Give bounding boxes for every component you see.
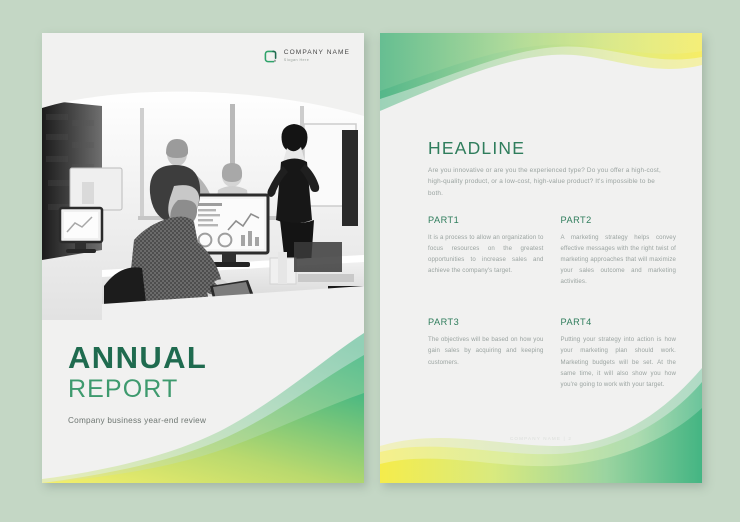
logo-slogan: Slogan Here (284, 59, 350, 63)
parts-grid: PART1 It is a process to allow an organi… (428, 215, 676, 390)
part-title: PART2 (561, 215, 677, 225)
part-title: PART1 (428, 215, 544, 225)
logo-text: COMPANY NAME Slogan Here (284, 50, 350, 63)
inside-content: HEADLINE Are you innovative or are you t… (380, 33, 702, 483)
cover-page: COMPANY NAME Slogan Here (42, 33, 364, 483)
part-title: PART4 (561, 317, 677, 327)
page-footer: COMPANY NAME | 2 (380, 436, 702, 441)
parts-row: PART3 The objectives will be based on ho… (428, 317, 676, 389)
part-title: PART3 (428, 317, 544, 327)
cover-title-annual: ANNUAL (68, 342, 207, 374)
page-headline: HEADLINE (428, 138, 525, 159)
part-body: Putting your strategy into action is how… (561, 334, 677, 389)
cover-title-block: ANNUAL REPORT Company business year-end … (68, 342, 207, 425)
part-column-1: PART1 It is a process to allow an organi… (428, 215, 544, 287)
part-body: The objectives will be based on how you … (428, 334, 544, 367)
part-body: A marketing strategy helps convey effect… (561, 232, 677, 287)
brochure-mockup: COMPANY NAME Slogan Here (0, 0, 740, 522)
company-logo-mark (263, 49, 278, 64)
cover-photo (42, 90, 364, 320)
cover-title-report: REPORT (68, 375, 207, 403)
part-body: It is a process to allow an organization… (428, 232, 544, 276)
office-photo-illustration (42, 90, 364, 320)
part-column-3: PART3 The objectives will be based on ho… (428, 317, 544, 389)
part-column-2: PART2 A marketing strategy helps convey … (561, 215, 677, 287)
intro-paragraph: Are you innovative or are you the experi… (428, 165, 668, 199)
logo-block: COMPANY NAME Slogan Here (263, 49, 350, 64)
cover-photo-inner (42, 90, 364, 320)
logo-company-name: COMPANY NAME (284, 50, 350, 57)
parts-row: PART1 It is a process to allow an organi… (428, 215, 676, 287)
part-column-4: PART4 Putting your strategy into action … (561, 317, 677, 389)
inside-page: HEADLINE Are you innovative or are you t… (380, 33, 702, 483)
cover-subtitle: Company business year-end review (68, 416, 207, 425)
